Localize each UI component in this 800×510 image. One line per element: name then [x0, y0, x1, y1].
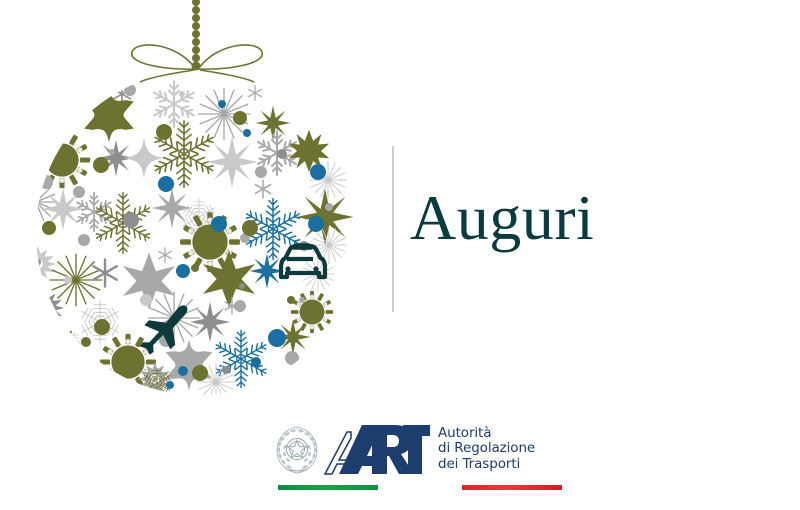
greeting-card: Auguri — [0, 0, 800, 510]
italian-republic-emblem — [272, 422, 322, 476]
logo-wordmark: Autorità di Regolazione dei Trasporti — [438, 426, 535, 473]
vertical-divider — [392, 146, 394, 312]
logo-line-3: dei Trasporti — [438, 457, 535, 473]
logo-line-2: di Regolazione — [438, 441, 535, 457]
logo-row: Autorità di Regolazione dei Trasporti — [272, 421, 540, 477]
airplane-icon — [140, 305, 187, 354]
art-monogram — [324, 421, 430, 477]
ornament-hanger-string — [192, 0, 201, 71]
flag-bar-green — [278, 485, 378, 490]
art-logo: Autorità di Regolazione dei Trasporti — [272, 421, 540, 497]
italian-flag-bars — [272, 483, 540, 493]
ornament-ball-body — [16, 78, 354, 401]
ornament-illustration — [0, 0, 400, 410]
flag-bar-red — [462, 485, 562, 490]
taxi-icon-lights — [285, 266, 318, 271]
greeting-text: Auguri — [410, 186, 740, 250]
logo-line-1: Autorità — [438, 426, 535, 442]
